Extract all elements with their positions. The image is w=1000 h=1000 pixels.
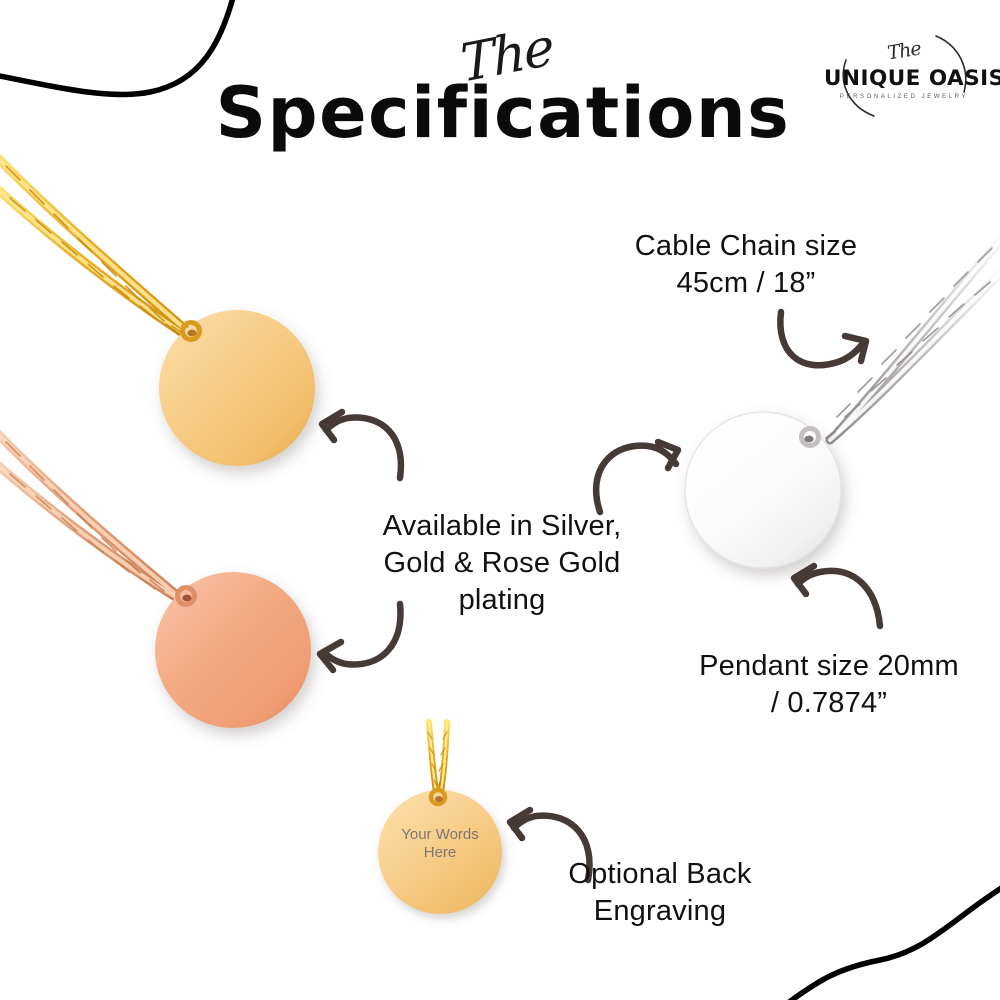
logo-brand-name: UNIQUE OASIS [824, 66, 984, 91]
arrow-to-chain [780, 312, 866, 365]
arrow-to-rose-gold-pendant [320, 604, 400, 670]
arrow-to-engraving [510, 810, 590, 880]
arrow-to-pendant-size [794, 566, 880, 626]
arrow-to-gold-pendant [322, 412, 401, 478]
logo-tagline: PERSONALIZED JEWELRY [824, 94, 984, 100]
brand-logo[interactable]: The UNIQUE OASIS PERSONALIZED JEWELRY [824, 22, 984, 130]
infographic-canvas: The Specifications The UNIQUE OASIS PERS… [0, 0, 1000, 1000]
arrow-to-silver-pendant [596, 442, 678, 512]
pointer-arrows [0, 0, 1000, 1000]
